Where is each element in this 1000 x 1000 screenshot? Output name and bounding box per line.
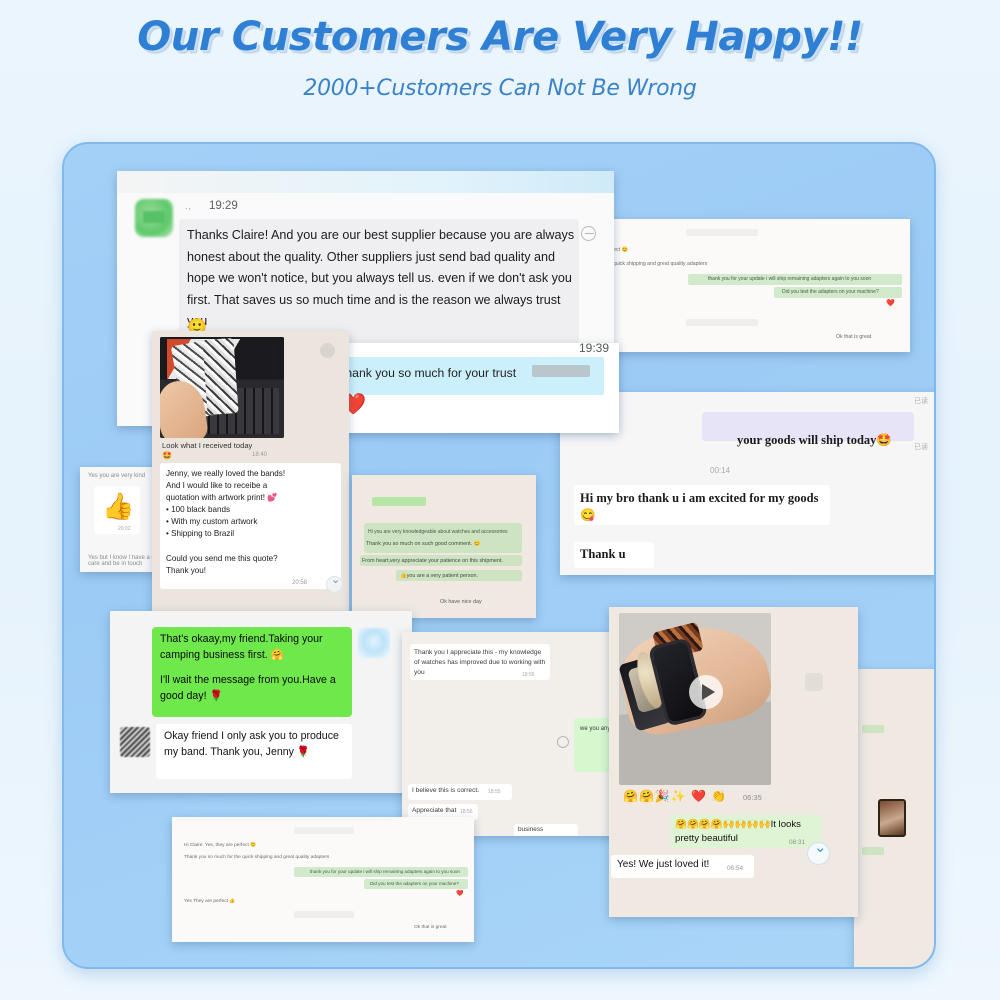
faded2-out-3: Ok that is great [414,925,447,930]
camping-msg-2: I'll wait the message from you.Have a go… [160,673,348,704]
scroll-down-icon[interactable] [807,842,830,865]
praise-highlight: Hi you are very knowledgeable about watc… [368,529,508,535]
video-time: 06:35 [743,793,762,802]
thank-u-text: Thank u [580,547,626,562]
praise-line-4: Ok have nice day [440,599,482,605]
very-kind-line: Yes you are very kind [88,473,145,479]
beautiful-time: 08:31 [789,839,805,846]
message-text: Thanks Claire! And you are our best supp… [187,225,575,333]
more-options-icon[interactable] [581,226,596,241]
trust-text: thank you so much for your trust [342,366,516,380]
redacted-name [532,365,590,377]
avatar-inner [143,211,165,223]
chat-screenshot-camping[interactable]: That's okaay,my friend.Taking your campi… [110,611,412,793]
camping-white-msg: Okay friend I only ask you to produce my… [164,729,350,760]
loved-time: 06:54 [727,865,743,872]
received-bands-photo[interactable] [160,337,284,438]
photo-caption: Look what I received today [162,441,252,450]
watch-video-thumbnail[interactable] [619,613,771,785]
sticker-icon [358,628,390,658]
order-message: Jenny, we really loved the bands! And I … [166,468,338,577]
faded-out-3: Ok that is great [836,334,871,340]
faded2-out-2: Did you test the adapters on your machin… [370,881,459,886]
faded-out-2: Did you test the adapters on your machin… [782,289,879,295]
excited-text: Hi my bro thank u i am excited for my go… [580,490,828,524]
chat-time-divider: 00:14 [710,466,730,475]
testimonial-poster: Our Customers Are Very Happy!! 2000+Cust… [0,0,1000,1000]
ship-today-text: your goods will ship today🤩 [712,418,892,463]
business-msg: business [518,826,543,833]
faded2-in-3: Yes They are perfect 👍 [184,899,235,904]
forward-arrow-icon[interactable] [805,673,823,691]
appreciate-msg: Appreciate that [412,807,456,814]
chat-screenshot-watch-knowledge[interactable]: Thank you I appreciate this - my knowled… [402,632,618,836]
faded2-out-1: thank you for your update i will ship re… [310,869,460,874]
scroll-down-icon[interactable] [326,576,343,593]
record-icon[interactable] [557,736,569,748]
chat-screenshot-trust[interactable]: 19:39 thank you so much for your trust ❤… [316,343,619,433]
poster-header: Our Customers Are Very Happy!! 2000+Cust… [0,14,1000,101]
correct-time: 18:55 [488,789,501,795]
order-time: 20:58 [292,580,307,586]
sender-initial: ., [185,201,192,211]
faded-out-1: thank you for your update i will ship re… [708,276,871,282]
thumbs-up-icon: 👍 [102,491,134,522]
chat-screenshot-praise[interactable]: Hi you are very knowledgeable about watc… [352,475,536,618]
page-title: Our Customers Are Very Happy!! [0,14,1000,60]
faded-reaction: ❤️ [886,299,895,307]
contact-avatar [120,727,150,757]
praise-line-1: Thank you so much on such good comment. … [366,541,480,547]
read-badge-2: 已读 [914,442,928,452]
thumbnail-image[interactable] [878,799,906,837]
page-subtitle: 2000+Customers Can Not Be Wrong [0,76,1000,101]
chat-screenshot-sliver[interactable] [854,669,936,969]
chat-screenshot-video-review[interactable]: 🤗🤗🎉✨ ❤️ 👏 06:35 🤗🤗🤗🤗🙌🙌🙌🙌It looks pretty … [609,607,858,917]
faded2-in-1: Hi Claire. Yes, they are perfect 😊 [184,843,256,848]
chat-screenshot-bands-order[interactable]: Look what I received today 🤩 18:40 Jenny… [152,331,349,615]
camping-msg-1: That's okaay,my friend.Taking your campi… [160,632,348,663]
faded2-reaction: ❤️ [456,890,463,897]
chat-screenshot-faded-adapters-2[interactable]: Hi Claire. Yes, they are perfect 😊 Thank… [172,817,474,942]
thumbs-time: 20:02 [118,526,131,532]
appreciate-time: 18:56 [460,809,473,815]
screenshot-collage-card: Hi Claire. Yes, they are perfect 😊 Thank… [62,142,936,969]
praise-line-2: From heart,very appreciate your patience… [362,558,503,564]
correct-msg: I believe this is correct. [412,787,479,794]
faded2-in-2: Thank you so much for the quick shipping… [184,855,329,860]
trust-time: 19:39 [579,343,609,355]
forward-arrow-icon[interactable] [320,343,335,358]
praise-line-3: 👍you are a very patient person. [400,573,478,579]
caption-time: 18:40 [252,452,267,458]
play-button-icon[interactable] [689,675,723,709]
reaction-emojis: 🤗🤗🎉✨ ❤️ 👏 [623,789,727,803]
message-time: 19:29 [209,200,238,212]
chat-topbar [117,171,614,193]
caption-emoji: 🤩 [162,451,172,460]
knowledge-time: 18:56 [522,672,535,678]
read-badge-1: 已读 [914,396,928,406]
loved-msg: Yes! We just loved it! [617,859,709,870]
